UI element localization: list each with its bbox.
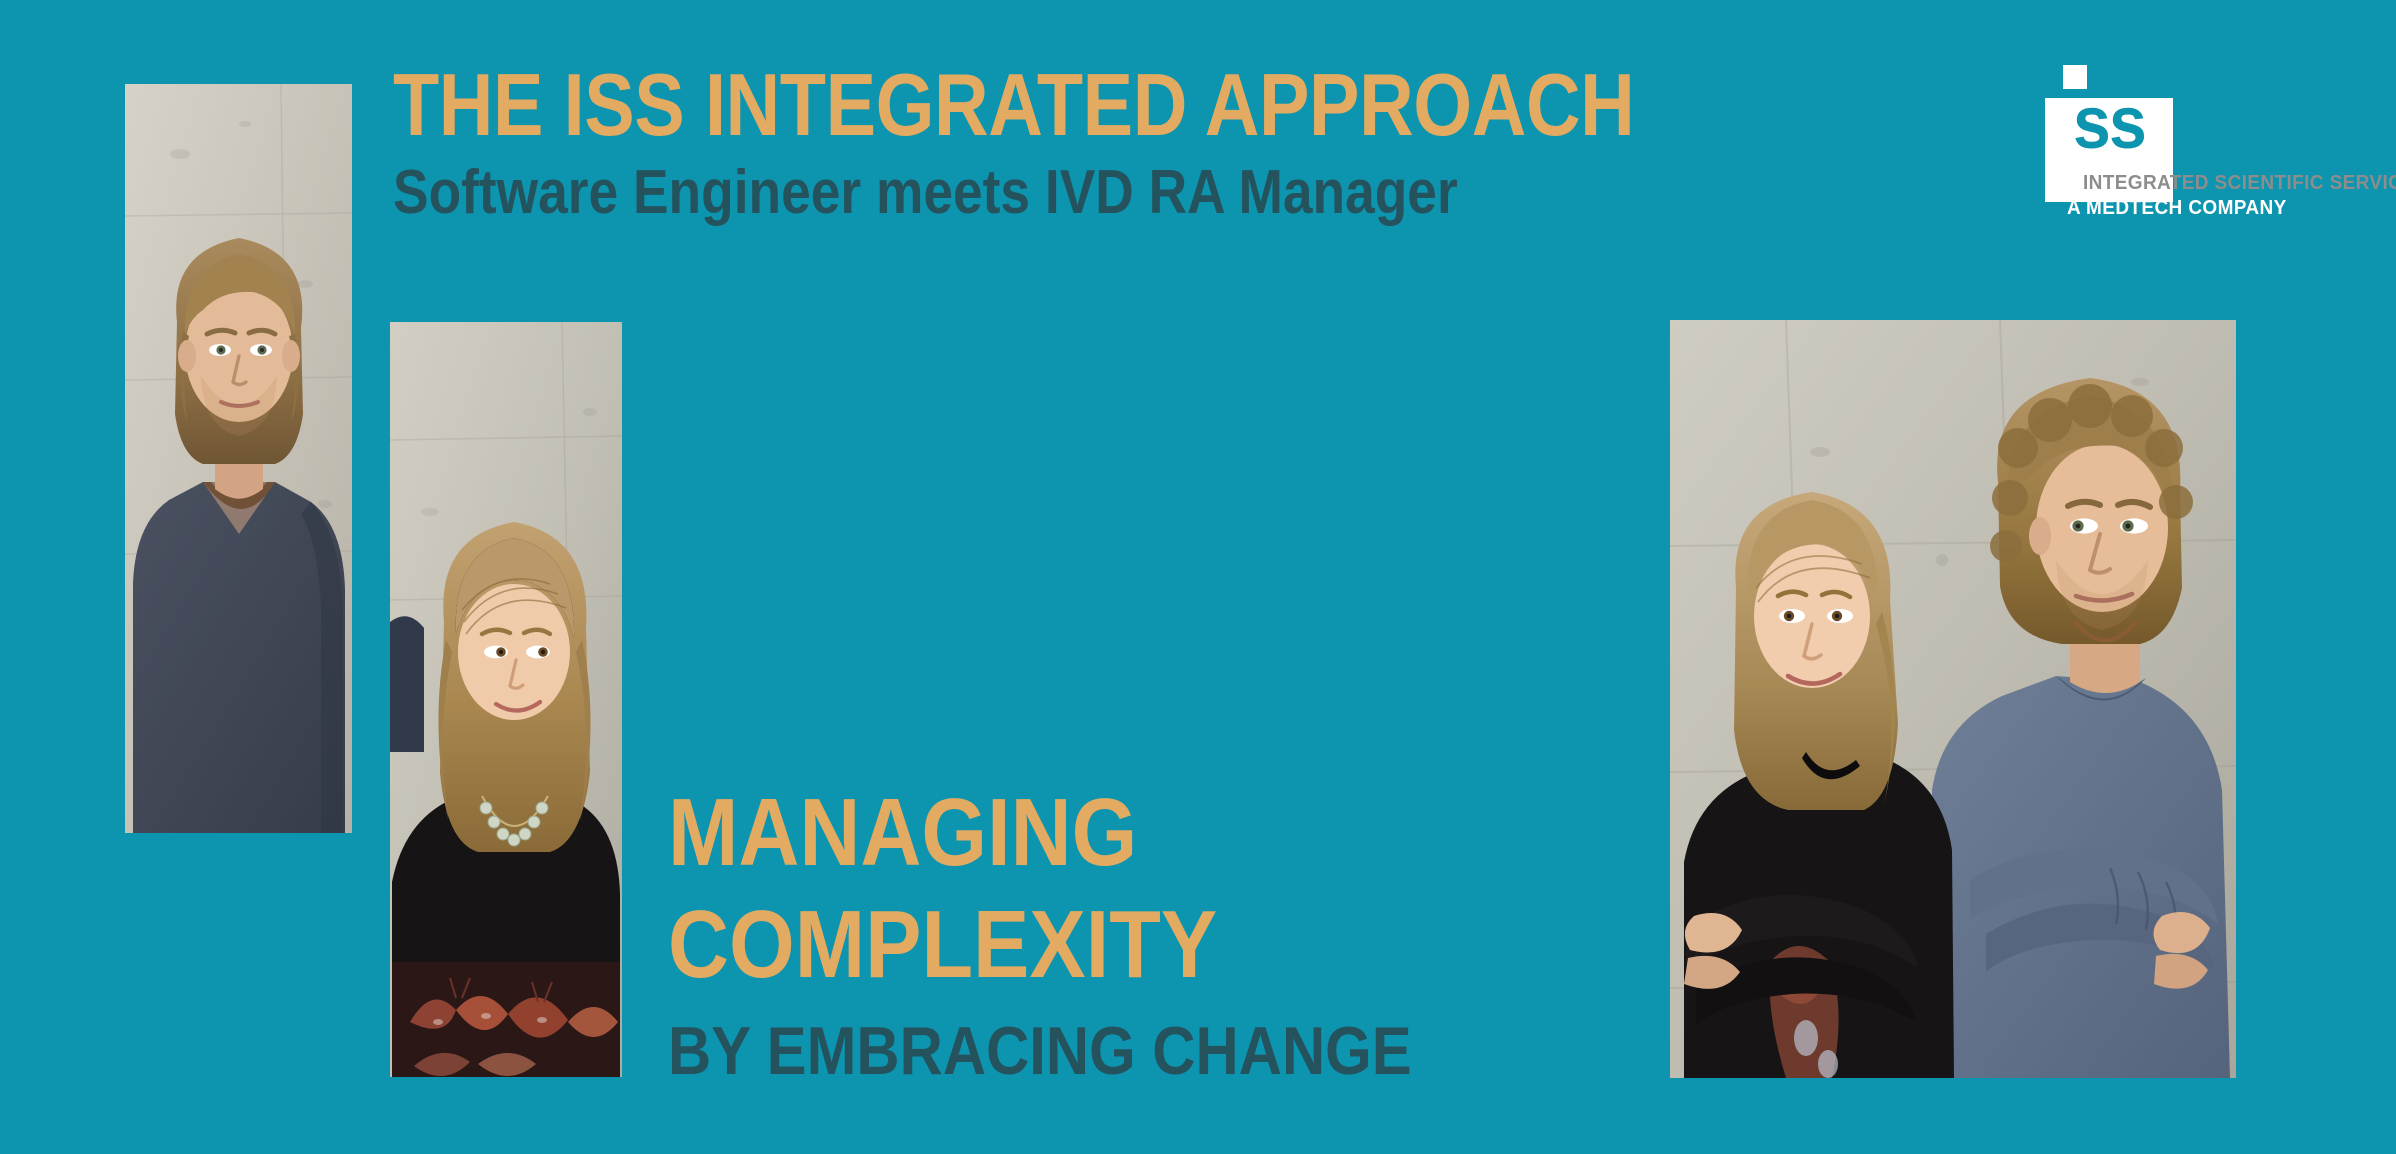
woman-portrait-illustration bbox=[390, 322, 622, 1077]
photo-woman-portrait bbox=[390, 322, 622, 1077]
headline-group: THE ISS INTEGRATED APPROACH Software Eng… bbox=[393, 62, 1693, 224]
page-subtitle: Software Engineer meets IVD RA Manager bbox=[393, 148, 1511, 224]
tagline-line-3: BY EMBRACING CHANGE bbox=[668, 993, 1460, 1085]
logo-company-name: INTEGRATED SCIENTIFIC SERVICES bbox=[2083, 172, 2396, 195]
tagline-line-2: COMPLEXITY bbox=[668, 897, 1460, 993]
banner-root: THE ISS INTEGRATED APPROACH Software Eng… bbox=[0, 0, 2396, 1154]
tagline-line-1: MANAGING bbox=[668, 785, 1460, 881]
page-title: THE ISS INTEGRATED APPROACH bbox=[393, 62, 1511, 148]
man-portrait-illustration bbox=[125, 84, 352, 833]
duo-portrait-illustration bbox=[1670, 320, 2236, 1078]
photo-man-portrait bbox=[125, 84, 352, 833]
tagline-group: MANAGING COMPLEXITY BY EMBRACING CHANGE bbox=[668, 785, 1568, 1085]
photo-duo-portrait bbox=[1670, 320, 2236, 1078]
iss-logo[interactable]: ss INTEGRATED SCIENTIFIC SERVICES A MEDT… bbox=[2045, 60, 2345, 205]
logo-descriptor: A MEDTECH COMPANY bbox=[2067, 197, 2287, 220]
logo-ss-mark: ss bbox=[2073, 90, 2183, 156]
